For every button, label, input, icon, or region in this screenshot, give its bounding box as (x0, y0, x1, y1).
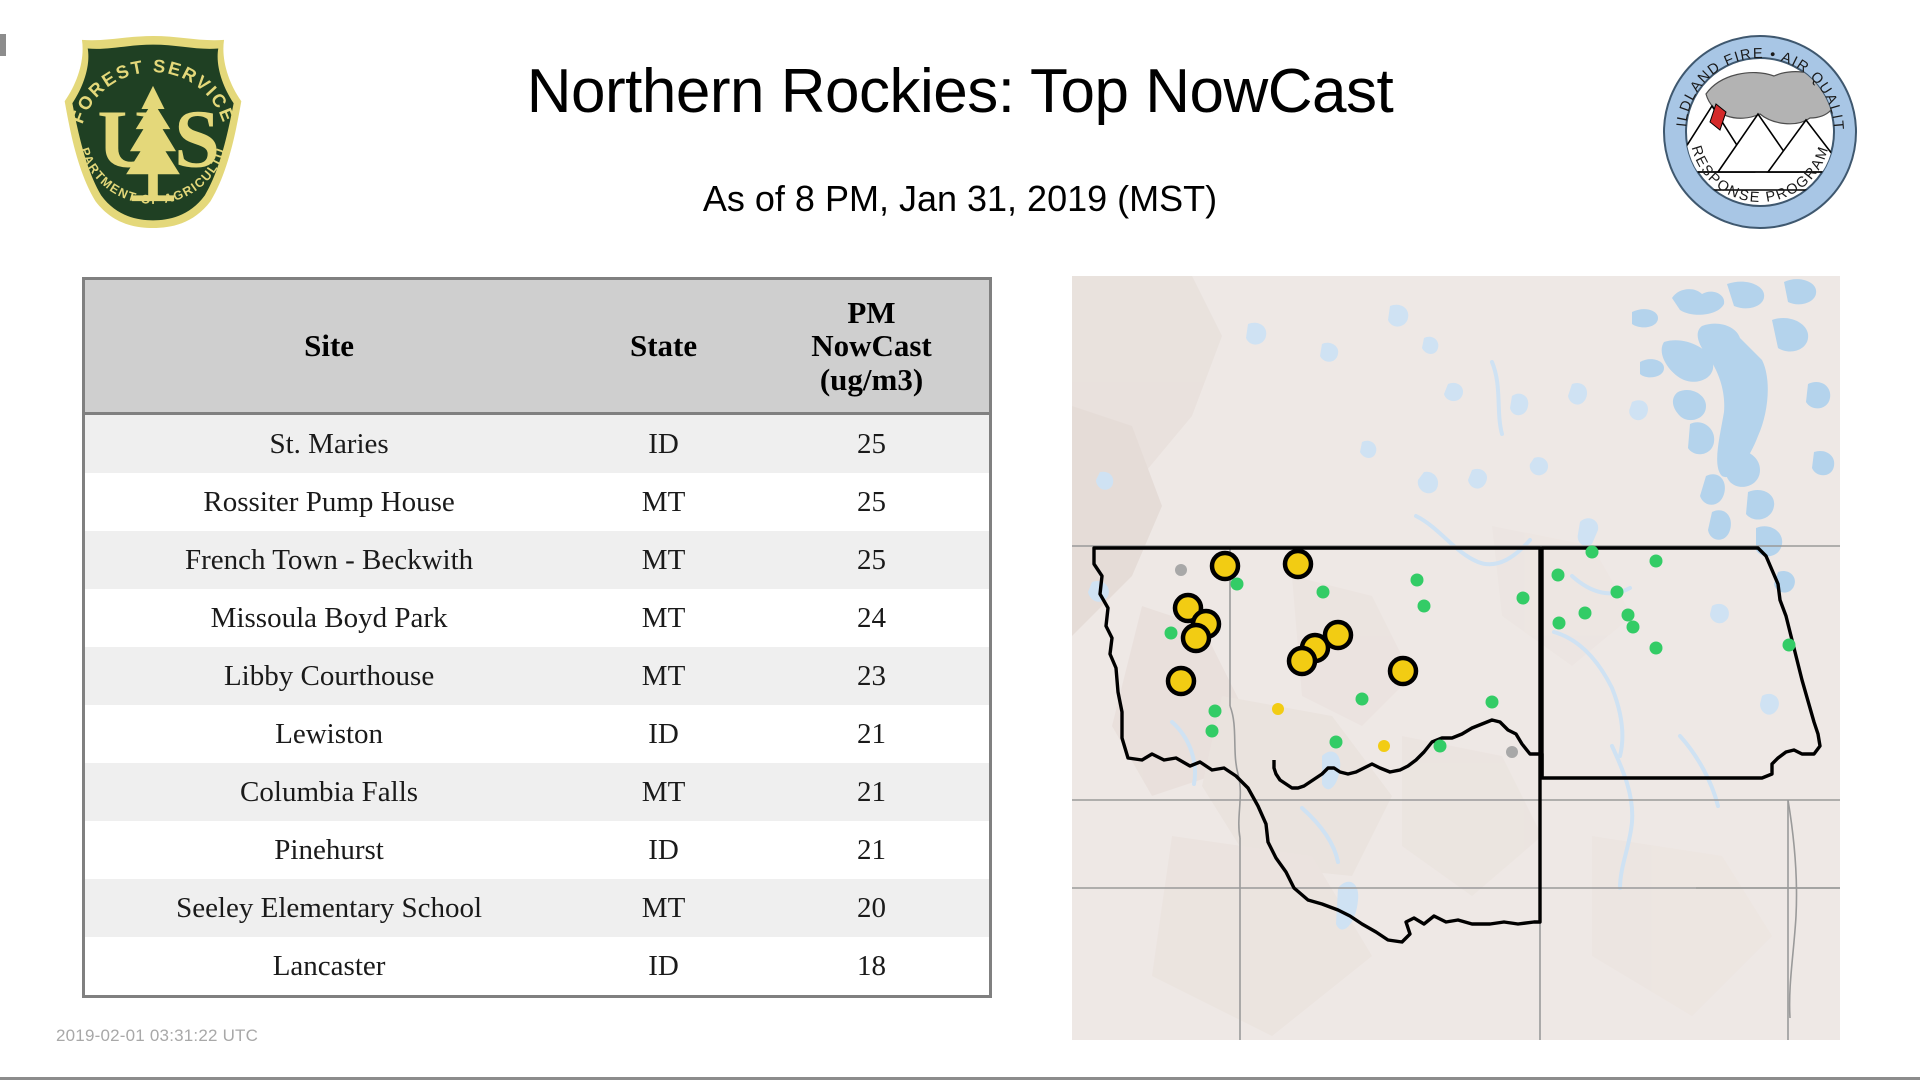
monitor-marker-small-yellow[interactable] (1378, 740, 1390, 752)
cell-site: St. Maries (85, 414, 573, 474)
cell-site: Rossiter Pump House (85, 473, 573, 531)
cell-value: 25 (754, 531, 989, 589)
cell-site: Libby Courthouse (85, 647, 573, 705)
table-row[interactable]: LewistonID21 (85, 705, 989, 763)
cell-value: 21 (754, 821, 989, 879)
monitor-marker-small-green[interactable] (1517, 592, 1530, 605)
monitor-marker-small-green[interactable] (1552, 569, 1565, 582)
cell-value: 23 (754, 647, 989, 705)
cell-state: ID (573, 705, 754, 763)
monitor-marker-small-green[interactable] (1486, 696, 1499, 709)
column-header-pm-nowcast-line1: PM (758, 296, 985, 329)
cell-value: 20 (754, 879, 989, 937)
page-frame: FOREST SERVICE DEPARTMENT OF AGRICULTURE… (0, 0, 1920, 1080)
monitor-marker-small-green[interactable] (1650, 555, 1663, 568)
monitor-marker-small-green[interactable] (1586, 546, 1599, 559)
monitor-marker-small-green[interactable] (1206, 725, 1219, 738)
cell-state: MT (573, 879, 754, 937)
map-canvas (1072, 276, 1840, 1040)
column-header-site[interactable]: Site (85, 280, 573, 414)
cell-state: ID (573, 937, 754, 995)
monitor-marker-large-yellow[interactable] (1212, 553, 1238, 579)
monitor-marker-large-yellow[interactable] (1390, 658, 1416, 684)
cell-state: MT (573, 763, 754, 821)
cell-value: 21 (754, 705, 989, 763)
monitor-map[interactable] (1072, 276, 1840, 1040)
monitor-marker-large-yellow[interactable] (1289, 648, 1315, 674)
monitor-marker-small-green[interactable] (1650, 642, 1663, 655)
table-row[interactable]: St. MariesID25 (85, 414, 989, 474)
cell-site: Seeley Elementary School (85, 879, 573, 937)
monitor-marker-large-yellow[interactable] (1285, 551, 1311, 577)
cell-site: Lancaster (85, 937, 573, 995)
top-nowcast-table: Site State PM NowCast (ug/m3) St. Maries… (82, 277, 992, 998)
monitor-marker-small-green[interactable] (1783, 639, 1796, 652)
table-row[interactable]: PinehurstID21 (85, 821, 989, 879)
cell-state: ID (573, 414, 754, 474)
monitor-marker-large-yellow[interactable] (1183, 625, 1209, 651)
table-row[interactable]: Rossiter Pump HouseMT25 (85, 473, 989, 531)
column-header-state[interactable]: State (573, 280, 754, 414)
table-row[interactable]: French Town - BeckwithMT25 (85, 531, 989, 589)
page-subtitle: As of 8 PM, Jan 31, 2019 (MST) (0, 178, 1920, 220)
monitor-marker-small-green[interactable] (1356, 693, 1369, 706)
cell-site: French Town - Beckwith (85, 531, 573, 589)
cell-state: MT (573, 473, 754, 531)
cell-value: 24 (754, 589, 989, 647)
monitor-marker-small-green[interactable] (1627, 621, 1640, 634)
cell-site: Missoula Boyd Park (85, 589, 573, 647)
column-header-pm-nowcast-line2: NowCast (758, 329, 985, 362)
cell-state: MT (573, 531, 754, 589)
monitor-marker-large-yellow[interactable] (1325, 622, 1351, 648)
monitor-marker-small-green[interactable] (1165, 627, 1178, 640)
monitor-marker-small-green[interactable] (1611, 586, 1624, 599)
table-row[interactable]: Libby CourthouseMT23 (85, 647, 989, 705)
table-row[interactable]: Columbia FallsMT21 (85, 763, 989, 821)
monitor-marker-small-green[interactable] (1330, 736, 1343, 749)
table-body: St. MariesID25Rossiter Pump HouseMT25Fre… (85, 414, 989, 996)
cell-site: Lewiston (85, 705, 573, 763)
cell-value: 25 (754, 473, 989, 531)
column-header-pm-nowcast-line3: (ug/m3) (758, 363, 985, 396)
cell-value: 21 (754, 763, 989, 821)
monitor-marker-large-yellow[interactable] (1168, 668, 1194, 694)
page-title: Northern Rockies: Top NowCast (0, 56, 1920, 127)
monitor-marker-small-gray[interactable] (1506, 746, 1518, 758)
monitor-marker-small-green[interactable] (1553, 617, 1566, 630)
monitor-marker-small-yellow[interactable] (1272, 703, 1284, 715)
monitor-marker-small-green[interactable] (1434, 740, 1447, 753)
cell-state: ID (573, 821, 754, 879)
generated-timestamp: 2019-02-01 03:31:22 UTC (56, 1026, 258, 1046)
column-header-pm-nowcast[interactable]: PM NowCast (ug/m3) (754, 280, 989, 414)
monitor-marker-small-green[interactable] (1622, 609, 1635, 622)
monitor-marker-small-green[interactable] (1411, 574, 1424, 587)
monitor-marker-small-green[interactable] (1579, 607, 1592, 620)
cell-value: 25 (754, 414, 989, 474)
table-row[interactable]: Seeley Elementary SchoolMT20 (85, 879, 989, 937)
monitor-marker-small-green[interactable] (1209, 705, 1222, 718)
table-row[interactable]: LancasterID18 (85, 937, 989, 995)
cell-value: 18 (754, 937, 989, 995)
left-edge-marker (0, 34, 6, 56)
table-header: Site State PM NowCast (ug/m3) (85, 280, 989, 414)
monitor-marker-small-gray[interactable] (1175, 564, 1187, 576)
cell-state: MT (573, 647, 754, 705)
monitor-marker-small-green[interactable] (1231, 578, 1244, 591)
table-header-row: Site State PM NowCast (ug/m3) (85, 280, 989, 414)
monitor-marker-small-green[interactable] (1418, 600, 1431, 613)
monitor-marker-small-green[interactable] (1317, 586, 1330, 599)
table-row[interactable]: Missoula Boyd ParkMT24 (85, 589, 989, 647)
cell-site: Columbia Falls (85, 763, 573, 821)
cell-site: Pinehurst (85, 821, 573, 879)
cell-state: MT (573, 589, 754, 647)
